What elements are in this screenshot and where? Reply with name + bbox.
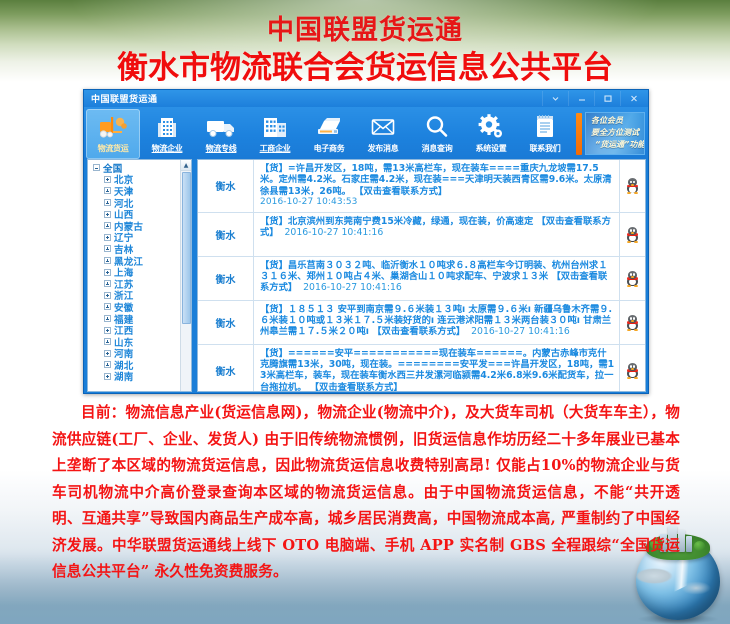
application-window: 中国联盟货运通	[83, 89, 649, 394]
tree-expand-icon[interactable]	[104, 257, 111, 264]
freight-list-table: 衡水【货】=许昌开发区，18吨，需13米高栏车，现在装车====重庆九龙坡需17…	[197, 159, 646, 392]
promo-banner[interactable]: 各位会员 要全方位测试 “货运通”功能！	[585, 112, 645, 155]
tree-node-province[interactable]: 北京	[91, 174, 191, 186]
toolbar-item-xitongshezhi[interactable]: 系统设置	[464, 109, 518, 159]
row-city: 衡水	[198, 257, 254, 300]
globe-building-4	[686, 536, 692, 552]
toolbar-item-wuliuhuoyun[interactable]: 物流货运	[86, 109, 140, 159]
description-paragraph: 目前：物流信息产业(货运信息网)，物流企业(物流中介)，及大货车司机（大货车车主…	[52, 400, 680, 586]
row-message: 【货】=许昌开发区，18吨，需13米高栏车，现在装车====重庆九龙坡需17.5…	[254, 160, 619, 212]
tree-node-province[interactable]: 河南	[91, 348, 191, 360]
forklift-icon	[98, 112, 128, 142]
tree-node-province[interactable]: 上海	[91, 266, 191, 278]
tree-expand-icon[interactable]	[104, 245, 111, 252]
toolbar-item-xiaoxichaxun[interactable]: 消息查询	[410, 109, 464, 159]
tree-expand-icon[interactable]	[104, 303, 111, 310]
qq-icon[interactable]	[626, 271, 639, 286]
row-contact-cell[interactable]	[619, 160, 645, 212]
toolbar-label: 电子商务	[314, 143, 345, 154]
tree-node-province[interactable]: 天津	[91, 185, 191, 197]
tree-node-province[interactable]: 湖北	[91, 359, 191, 371]
tree-node-province[interactable]: 河北	[91, 197, 191, 209]
qq-icon[interactable]	[626, 178, 639, 193]
tree-expand-icon[interactable]	[104, 292, 111, 299]
scroll-thumb[interactable]	[182, 172, 191, 324]
table-row[interactable]: 衡水【货】======安平===========现在装车======。内蒙古赤峰…	[198, 345, 645, 392]
window-title: 中国联盟货运通	[91, 92, 158, 105]
tree-expand-icon[interactable]	[104, 327, 111, 334]
tree-node-province[interactable]: 湖南	[91, 371, 191, 383]
envelope-icon	[369, 112, 397, 142]
window-body: 全国 北京天津河北山西内蒙古辽宁吉林黑龙江上海江苏浙江安徽福建江西山东河南湖北湖…	[84, 159, 648, 394]
office-icon	[261, 112, 289, 142]
toolbar-label: 消息查询	[422, 143, 453, 154]
row-message: 【货】１８５１３ 安平到南京需９.６米装１３吨ı 太原需９.６米ı 新疆乌鲁木齐…	[254, 301, 619, 344]
headline-line-2: 衡水市物流联合会货运信息公共平台	[0, 48, 730, 88]
tree-node-root[interactable]: 全国	[91, 162, 191, 174]
tree-node-label: 湖南	[114, 369, 133, 383]
page-title: 中国联盟货运通 衡水市物流联合会货运信息公共平台	[0, 0, 730, 88]
gear-icon	[477, 112, 505, 142]
globe-tree-2	[694, 541, 705, 551]
row-message-text: 【货】======安平===========现在装车======。内蒙古赤峰市克…	[260, 348, 614, 392]
row-city: 衡水	[198, 160, 254, 212]
tree-node-province[interactable]: 山东	[91, 336, 191, 348]
tree-node-province[interactable]: 福建	[91, 313, 191, 325]
row-contact-cell[interactable]	[619, 345, 645, 392]
table-row[interactable]: 衡水【货】昌乐莒南３０３２吨、临沂衡水１０吨求６.８高栏车今订明装、杭州台州求１…	[198, 257, 645, 301]
tree-node-province[interactable]: 江苏	[91, 278, 191, 290]
main-toolbar: 物流货运 物流企业	[84, 107, 648, 159]
table-body: 衡水【货】=许昌开发区，18吨，需13米高栏车，现在装车====重庆九龙坡需17…	[198, 160, 645, 392]
maximize-icon[interactable]	[594, 91, 620, 106]
qq-icon[interactable]	[626, 363, 639, 378]
tree-node-province[interactable]: 江西	[91, 324, 191, 336]
region-tree: 全国 北京天津河北山西内蒙古辽宁吉林黑龙江上海江苏浙江安徽福建江西山东河南湖北湖…	[88, 160, 191, 391]
row-message: 【货】北京滨州到东莞南宁费15米冷藏，绿通，现在装，价高速定 【双击查看联系方式…	[254, 213, 619, 256]
banner-line-3: “货运通”功能！	[591, 139, 644, 151]
truck-icon	[205, 112, 237, 142]
toolbar-item-dianzishangwu[interactable]: 电子商务	[302, 109, 356, 159]
tree-expand-icon[interactable]	[104, 361, 111, 368]
tree-expand-icon[interactable]	[104, 350, 111, 357]
toolbar-label: 物流专线	[206, 143, 237, 154]
row-message-text: 【货】=许昌开发区，18吨，需13米高栏车，现在装车====重庆九龙坡需17.5…	[260, 163, 612, 197]
toolbar-divider	[576, 113, 582, 155]
tree-node-province[interactable]: 安徽	[91, 301, 191, 313]
tree-children: 北京天津河北山西内蒙古辽宁吉林黑龙江上海江苏浙江安徽福建江西山东河南湖北湖南	[91, 174, 191, 383]
row-city: 衡水	[198, 301, 254, 344]
row-message: 【货】======安平===========现在装车======。内蒙古赤峰市克…	[254, 345, 619, 392]
tree-node-province[interactable]: 浙江	[91, 290, 191, 302]
window-titlebar[interactable]: 中国联盟货运通	[84, 90, 648, 107]
tree-node-province[interactable]: 黑龙江	[91, 255, 191, 267]
tree-expand-icon[interactable]	[104, 280, 111, 287]
toolbar-label: 联系我们	[530, 143, 561, 154]
toolbar-item-wuliuzhuanxian[interactable]: 物流专线	[194, 109, 248, 159]
toolbar-item-fabuxiaoxi[interactable]: 发布消息	[356, 109, 410, 159]
toolbar-label: 工商企业	[260, 143, 291, 154]
row-contact-cell[interactable]	[619, 257, 645, 300]
search-icon	[424, 112, 450, 142]
tree-expand-icon[interactable]	[104, 373, 111, 380]
toolbar-label: 发布消息	[368, 143, 399, 154]
tree-expand-icon[interactable]	[104, 269, 111, 276]
tree-expand-icon[interactable]	[104, 338, 111, 345]
ecommerce-icon	[314, 112, 344, 142]
scroll-up-arrow-icon[interactable]: ▲	[181, 160, 191, 171]
qq-icon[interactable]	[626, 315, 639, 330]
close-icon[interactable]	[620, 91, 646, 106]
toolbar-item-wuliuqiye[interactable]: 物流企业	[140, 109, 194, 159]
table-row[interactable]: 衡水【货】北京滨州到东莞南宁费15米冷藏，绿通，现在装，价高速定 【双击查看联系…	[198, 213, 645, 257]
sidebar-scrollbar[interactable]: ▲	[180, 160, 191, 391]
table-row[interactable]: 衡水【货】=许昌开发区，18吨，需13米高栏车，现在装车====重庆九龙坡需17…	[198, 160, 645, 213]
tree-collapse-icon[interactable]	[93, 164, 100, 171]
poster-page: 中国联盟货运通 衡水市物流联合会货运信息公共平台 中国联盟货运通	[0, 0, 730, 624]
row-contact-cell[interactable]	[619, 301, 645, 344]
toolbar-label: 系统设置	[476, 143, 507, 154]
row-timestamp: 2016-10-27 10:41:16	[279, 227, 384, 238]
row-city: 衡水	[198, 213, 254, 256]
tree-expand-icon[interactable]	[104, 176, 111, 183]
row-contact-cell[interactable]	[619, 213, 645, 256]
row-timestamp: 2016-10-27 10:43:53	[260, 197, 615, 208]
tree-node-province[interactable]: 辽宁	[91, 232, 191, 244]
tree-expand-icon[interactable]	[104, 315, 111, 322]
row-timestamp: 2016-10-27 10:41:16	[465, 326, 570, 337]
tree-expand-icon[interactable]	[104, 234, 111, 241]
toolbar-label: 物流货运	[98, 143, 129, 154]
row-city: 衡水	[198, 345, 254, 392]
row-message: 【货】昌乐莒南３０３２吨、临沂衡水１０吨求６.８高栏车今订明装、杭州台州求１３１…	[254, 257, 619, 300]
window-controls	[542, 90, 646, 107]
banner-line-2: 要全方位测试	[591, 127, 644, 139]
building-icon	[154, 112, 180, 142]
qq-icon[interactable]	[626, 227, 639, 242]
tree-node-province[interactable]: 内蒙古	[91, 220, 191, 232]
region-tree-panel: 全国 北京天津河北山西内蒙古辽宁吉林黑龙江上海江苏浙江安徽福建江西山东河南湖北湖…	[87, 159, 192, 392]
banner-line-1: 各位会员	[591, 115, 644, 127]
headline-line-1: 中国联盟货运通	[0, 14, 730, 48]
minimize-icon[interactable]	[568, 91, 594, 106]
table-row[interactable]: 衡水【货】１８５１３ 安平到南京需９.６米装１３吨ı 太原需９.６米ı 新疆乌鲁…	[198, 301, 645, 345]
tree-expand-icon[interactable]	[104, 211, 111, 218]
toolbar-item-lianxiwomen[interactable]: 联系我们	[518, 109, 572, 159]
toolbar-label: 物流企业	[152, 143, 183, 154]
row-timestamp: 2016-10-27 10:41:16	[297, 282, 402, 293]
toolbar-item-gongshangqiye[interactable]: 工商企业	[248, 109, 302, 159]
dropdown-arrow-icon[interactable]	[542, 91, 568, 106]
tree-expand-icon[interactable]	[104, 199, 111, 206]
tree-expand-icon[interactable]	[104, 187, 111, 194]
tree-expand-icon[interactable]	[104, 222, 111, 229]
document-icon	[532, 112, 558, 142]
